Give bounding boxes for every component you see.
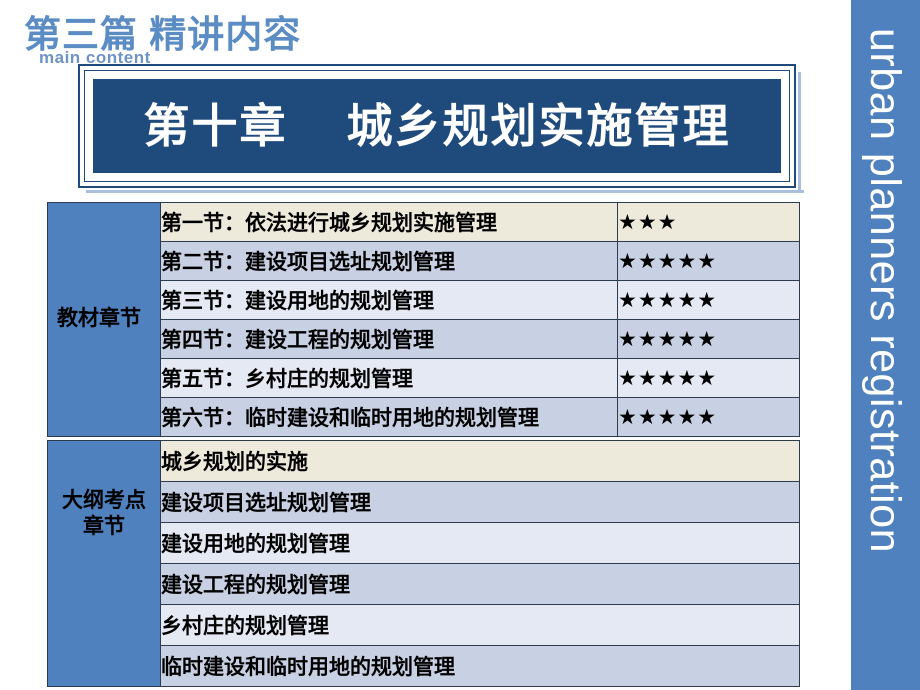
table-row: 建设项目选址规划管理 — [48, 482, 800, 523]
table-row: 第三节：建设用地的规划管理 ★★★★★ — [48, 281, 800, 320]
table-row: 建设用地的规划管理 — [48, 523, 800, 564]
outline-name: 建设用地的规划管理 — [161, 523, 800, 564]
section-name: 第二节：建设项目选址规划管理 — [161, 242, 618, 281]
star-rating: ★★★ — [618, 203, 800, 242]
side-banner-label: urban planners registration — [860, 28, 909, 553]
section-name: 第一节：依法进行城乡规划实施管理 — [161, 203, 618, 242]
banner-shadow-right — [798, 72, 801, 190]
chapter-title: 第十章 城乡规划实施管理 — [143, 103, 730, 149]
star-rating: ★★★★★ — [618, 320, 800, 359]
outline-name: 临时建设和临时用地的规划管理 — [161, 646, 800, 687]
table-row: 教材章节 第一节：依法进行城乡规划实施管理 ★★★ — [48, 203, 800, 242]
table-row: 第二节：建设项目选址规划管理 ★★★★★ — [48, 242, 800, 281]
star-rating: ★★★★★ — [618, 281, 800, 320]
side-banner: urban planners registration — [851, 0, 920, 690]
outline-name: 建设项目选址规划管理 — [161, 482, 800, 523]
textbook-sections-table: 教材章节 第一节：依法进行城乡规划实施管理 ★★★ 第二节：建设项目选址规划管理… — [47, 202, 800, 437]
star-rating: ★★★★★ — [618, 398, 800, 437]
section-name: 第五节：乡村庄的规划管理 — [161, 359, 618, 398]
chapter-banner-fill: 第十章 城乡规划实施管理 — [93, 79, 781, 173]
table-row: 大纲考点 章节 城乡规划的实施 — [48, 441, 800, 482]
row-header-outline-label: 大纲考点 章节 — [48, 488, 160, 638]
table-row: 第五节：乡村庄的规划管理 ★★★★★ — [48, 359, 800, 398]
row-header-textbook-label: 教材章节 — [48, 307, 160, 331]
table-row: 乡村庄的规划管理 — [48, 605, 800, 646]
chapter-banner-border: 第十章 城乡规划实施管理 — [84, 70, 790, 182]
outline-name: 建设工程的规划管理 — [161, 564, 800, 605]
table-row: 第四节：建设工程的规划管理 ★★★★★ — [48, 320, 800, 359]
star-rating: ★★★★★ — [618, 242, 800, 281]
table-row: 临时建设和临时用地的规划管理 — [48, 646, 800, 687]
star-rating: ★★★★★ — [618, 359, 800, 398]
outline-sections-table: 大纲考点 章节 城乡规划的实施 建设项目选址规划管理 建设用地的规划管理 建设工… — [47, 440, 800, 687]
outline-name: 乡村庄的规划管理 — [161, 605, 800, 646]
banner-shadow-bottom — [86, 190, 804, 193]
row-header-outline-line2: 章节 — [48, 514, 160, 539]
section-name: 第六节：临时建设和临时用地的规划管理 — [161, 398, 618, 437]
chapter-banner: 第十章 城乡规划实施管理 — [78, 64, 796, 188]
table-row: 建设工程的规划管理 — [48, 564, 800, 605]
section-name: 第三节：建设用地的规划管理 — [161, 281, 618, 320]
row-header-outline: 大纲考点 章节 — [48, 441, 161, 687]
table-row: 第六节：临时建设和临时用地的规划管理 ★★★★★ — [48, 398, 800, 437]
outline-name: 城乡规划的实施 — [161, 441, 800, 482]
row-header-textbook: 教材章节 — [48, 203, 161, 437]
section-name: 第四节：建设工程的规划管理 — [161, 320, 618, 359]
row-header-outline-line1: 大纲考点 — [48, 488, 160, 513]
